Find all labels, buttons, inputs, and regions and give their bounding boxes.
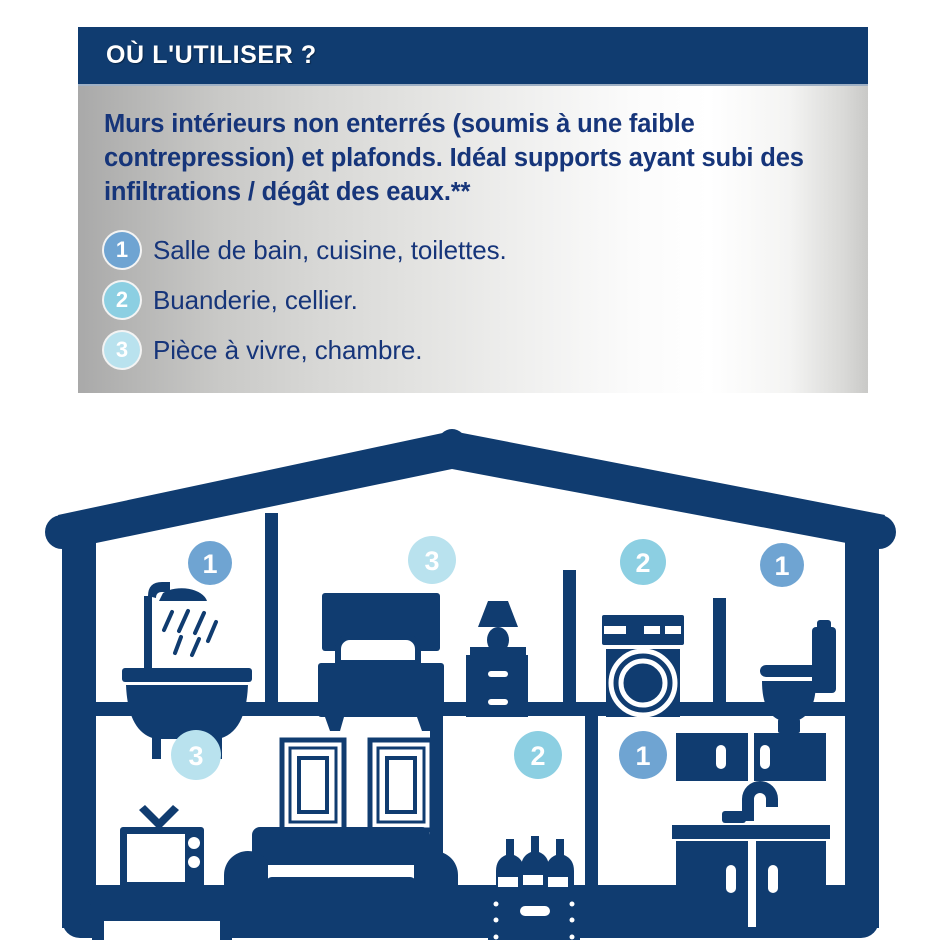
panel-title: OÙ L'UTILISER ? (106, 41, 317, 70)
faucet-icon (742, 781, 778, 821)
upper-wall-2 (563, 570, 576, 703)
list-item-label-3: Pièce à vivre, chambre. (153, 335, 422, 366)
sofa-seat (266, 877, 416, 921)
roof-left-slope (58, 431, 452, 548)
roof-right-slope (452, 431, 885, 548)
water-drops-icon (164, 611, 216, 655)
roof-apex-cap (438, 429, 466, 457)
list-item: 3 Pièce à vivre, chambre. (104, 327, 842, 374)
upper-wall-3 (713, 598, 726, 703)
house-badge-label-lower-cellar: 2 (530, 741, 545, 771)
tv-stand-shelf (104, 921, 220, 940)
bathtub-leg-left (152, 737, 161, 759)
upper-wall-1 (265, 513, 278, 703)
nightstand-handle-bottom (488, 699, 508, 705)
room-lower-livingroom (88, 740, 458, 940)
list-item: 2 Buanderie, cellier. (104, 277, 842, 324)
kitchen-worktop (672, 825, 830, 839)
sofa-arm-left (224, 851, 272, 921)
bathtub-rim (122, 668, 252, 682)
room-lower-cellar (488, 836, 580, 940)
info-panel: OÙ L'UTILISER ? Murs intérieurs non ente… (78, 27, 868, 393)
nightstand-handle-top (488, 671, 508, 677)
toilet-flush-button (817, 620, 831, 630)
tv-stand-top (88, 889, 236, 905)
lower-wall-2 (585, 716, 598, 902)
wall-cabinet-handle-left (716, 745, 726, 769)
room-lower-kitchen (672, 733, 830, 927)
bed-leg-left (325, 717, 344, 731)
picture-frame-icon (282, 740, 432, 830)
tv-knob-top (188, 837, 200, 849)
sofa-back (252, 827, 430, 869)
base-cabinet-handle-left (726, 865, 736, 893)
washer-button-2 (644, 626, 660, 634)
room-upper-toilet (760, 620, 836, 733)
exterior-wall-left (62, 525, 96, 928)
base-cabinet-handle-right (768, 865, 778, 893)
panel-header: OÙ L'UTILISER ? (78, 27, 868, 84)
house-svg: 1 3 2 (0, 415, 940, 940)
lamp-shade (478, 601, 518, 627)
sofa-base (240, 921, 442, 933)
nightstand-body (466, 655, 528, 717)
bed-pillow (338, 637, 418, 663)
tv-knob-bottom (188, 856, 200, 868)
house-cutaway-illustration: 1 3 2 (0, 415, 940, 940)
list-item-label-1: Salle de bain, cuisine, toilettes. (153, 235, 507, 266)
toilet-foot (778, 719, 800, 733)
tv-screen (127, 834, 185, 882)
base-cabinet-split (748, 841, 756, 927)
tv-antenna-icon (139, 805, 179, 830)
panel-body: Murs intérieurs non enterrés (soumis à u… (78, 84, 868, 393)
sofa-icon (224, 827, 458, 933)
room-upper-bedroom (318, 593, 528, 731)
faucet-valve (722, 811, 746, 823)
wall-cabinet-left (676, 733, 748, 781)
room-upper-laundry (602, 615, 684, 717)
washer-button-1 (604, 626, 626, 634)
usage-list: 1 Salle de bain, cuisine, toilettes. 2 B… (104, 227, 842, 374)
house-badge-label-upper-bathroom: 1 (202, 549, 217, 579)
list-item: 1 Salle de bain, cuisine, toilettes. (104, 227, 842, 274)
wine-crate-icon (488, 897, 580, 940)
list-badge-1: 1 (104, 232, 140, 268)
bed-base (318, 663, 444, 717)
lamp-base (470, 647, 526, 657)
list-badge-2: 2 (104, 282, 140, 318)
exterior-wall-right (845, 525, 879, 928)
shower-pole (144, 596, 152, 671)
house-badge-label-upper-bedroom: 3 (424, 546, 439, 576)
house-badge-label-lower-livingroom: 3 (188, 741, 203, 771)
wall-cabinet-handle-right (760, 745, 770, 769)
list-item-label-2: Buanderie, cellier. (153, 285, 358, 316)
panel-intro-text: Murs intérieurs non enterrés (soumis à u… (104, 108, 842, 210)
house-badge-label-upper-laundry: 2 (635, 548, 650, 578)
list-badge-3: 3 (104, 332, 140, 368)
toilet-lid (760, 665, 818, 677)
washer-button-3 (665, 626, 681, 634)
bathtub-body (126, 685, 248, 739)
bottle-icon (496, 836, 574, 897)
house-badge-label-upper-toilet: 1 (774, 551, 789, 581)
sofa-arm-right (410, 851, 458, 921)
house-badge-label-lower-kitchen: 1 (635, 741, 650, 771)
